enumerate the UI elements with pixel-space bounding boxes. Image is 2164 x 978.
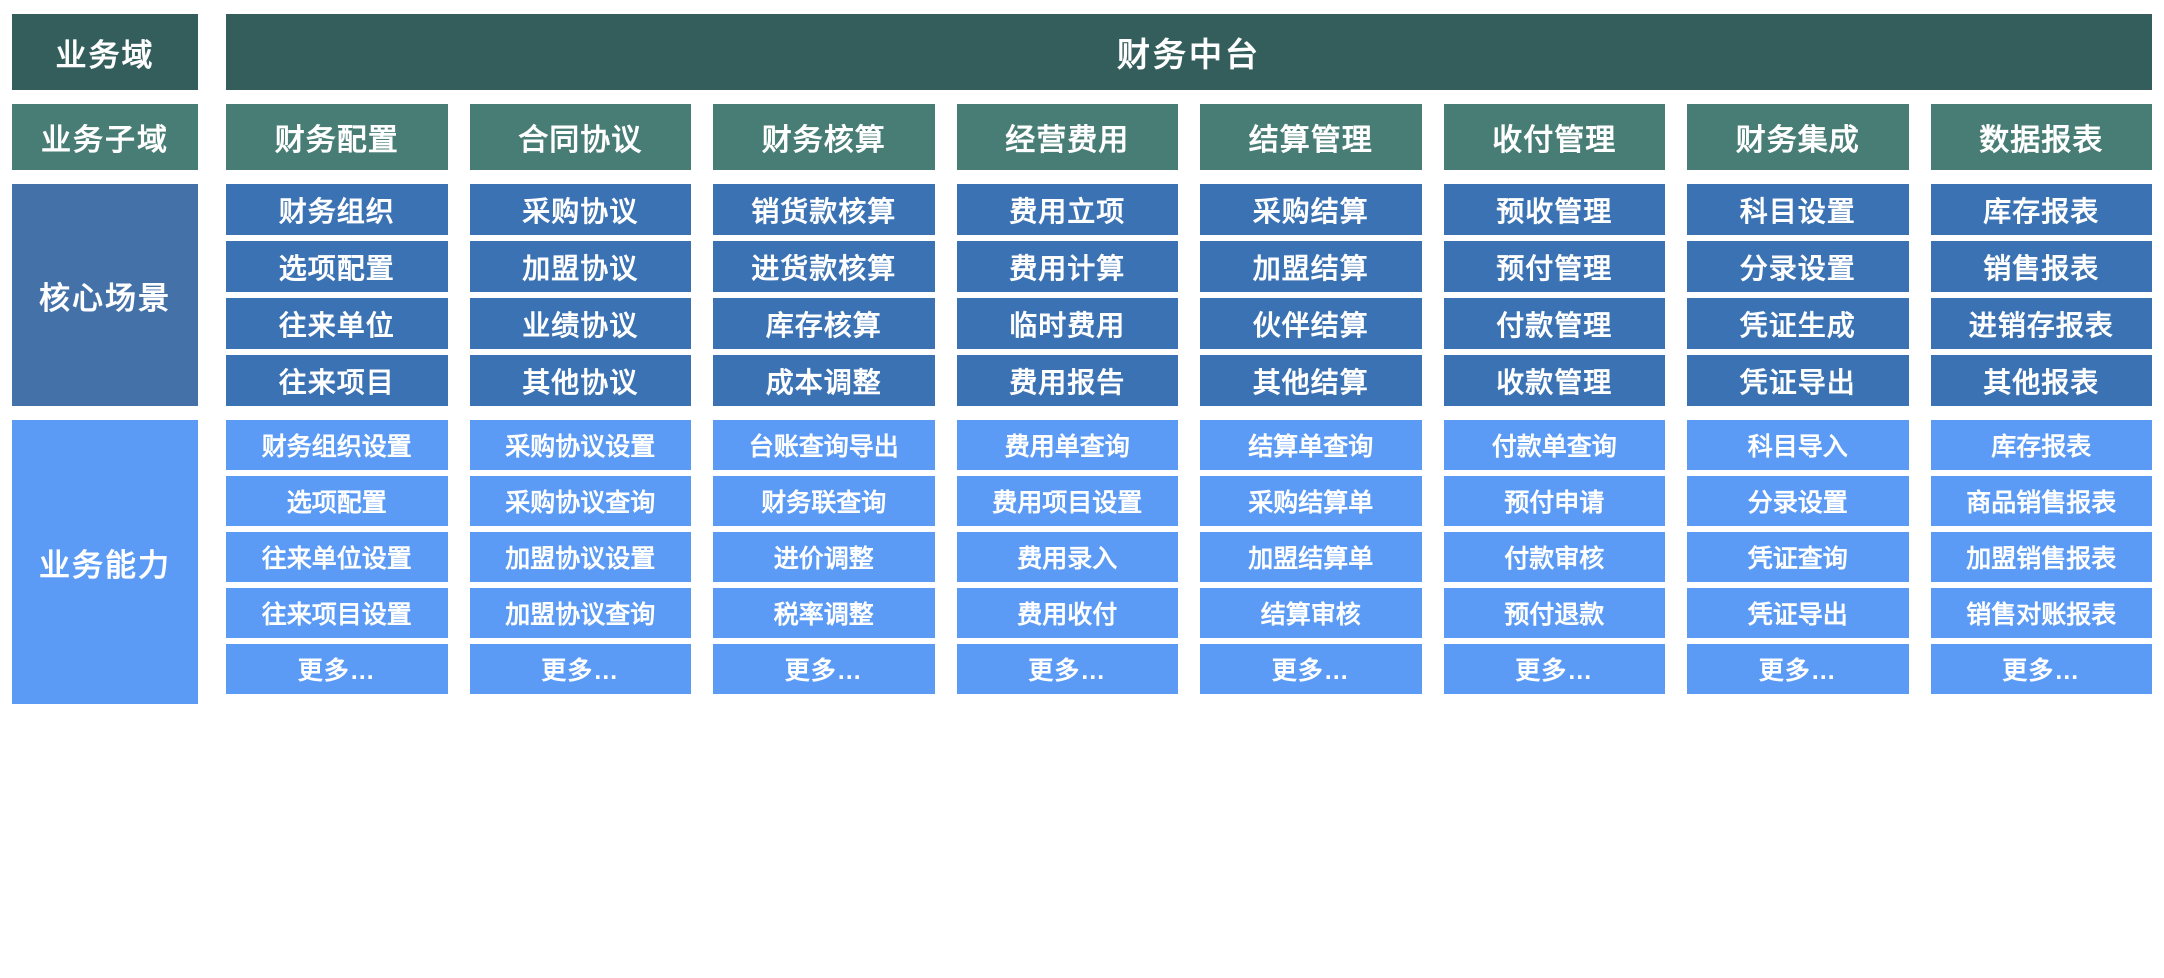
core-scenario-cell[interactable]: 凭证生成: [1687, 298, 1909, 349]
capability-column: 结算单查询 采购结算单 加盟结算单 结算审核 更多…: [1200, 420, 1422, 704]
capability-cell[interactable]: 财务组织设置: [226, 420, 448, 470]
capability-cell[interactable]: 销售对账报表: [1931, 588, 2153, 638]
core-scenario-column: 预收管理 预付管理 付款管理 收款管理: [1444, 184, 1666, 406]
core-scenario-cell[interactable]: 往来单位: [226, 298, 448, 349]
core-scenario-cell[interactable]: 凭证导出: [1687, 355, 1909, 406]
capability-cell[interactable]: 采购协议查询: [470, 476, 692, 526]
capability-cell[interactable]: 费用录入: [957, 532, 1179, 582]
core-scenario-cell[interactable]: 销货款核算: [713, 184, 935, 235]
subdomain-cell[interactable]: 合同协议: [470, 104, 692, 170]
core-scenario-cell[interactable]: 临时费用: [957, 298, 1179, 349]
capability-cell[interactable]: 库存报表: [1931, 420, 2153, 470]
core-scenario-cell[interactable]: 业绩协议: [470, 298, 692, 349]
capability-cell[interactable]: 凭证导出: [1687, 588, 1909, 638]
capability-cell[interactable]: 加盟销售报表: [1931, 532, 2153, 582]
capability-map-board: 业务域 财务中台 业务子域 财务配置 合同协议 财务核算 经营费用 结算管理 收…: [0, 0, 2164, 978]
row-label-business-capability: 业务能力: [12, 420, 198, 704]
capability-column: 付款单查询 预付申请 付款审核 预付退款 更多…: [1444, 420, 1666, 704]
core-scenario-cell[interactable]: 选项配置: [226, 241, 448, 292]
business-subdomain-row: 业务子域 财务配置 合同协议 财务核算 经营费用 结算管理 收付管理 财务集成 …: [12, 104, 2152, 170]
subdomain-cell[interactable]: 财务核算: [713, 104, 935, 170]
core-scenario-cell[interactable]: 其他协议: [470, 355, 692, 406]
core-scenario-cell[interactable]: 库存核算: [713, 298, 935, 349]
business-domain-row: 业务域 财务中台: [12, 14, 2152, 90]
core-scenario-cell[interactable]: 进货款核算: [713, 241, 935, 292]
core-scenario-cell[interactable]: 财务组织: [226, 184, 448, 235]
core-scenario-cell[interactable]: 加盟结算: [1200, 241, 1422, 292]
capability-column: 采购协议设置 采购协议查询 加盟协议设置 加盟协议查询 更多…: [470, 420, 692, 704]
capability-cell[interactable]: 费用收付: [957, 588, 1179, 638]
capability-cell[interactable]: 商品销售报表: [1931, 476, 2153, 526]
core-scenario-cell[interactable]: 伙伴结算: [1200, 298, 1422, 349]
capability-cell[interactable]: 财务联查询: [713, 476, 935, 526]
subdomain-columns: 财务配置 合同协议 财务核算 经营费用 结算管理 收付管理 财务集成 数据报表: [226, 104, 2152, 170]
capability-cell[interactable]: 科目导入: [1687, 420, 1909, 470]
core-scenario-column: 采购结算 加盟结算 伙伴结算 其他结算: [1200, 184, 1422, 406]
core-scenario-cell[interactable]: 进销存报表: [1931, 298, 2153, 349]
capability-cell[interactable]: 付款审核: [1444, 532, 1666, 582]
capability-cell[interactable]: 预付申请: [1444, 476, 1666, 526]
capability-cell[interactable]: 采购结算单: [1200, 476, 1422, 526]
capability-columns: 财务组织设置 选项配置 往来单位设置 往来项目设置 更多… 采购协议设置 采购协…: [226, 420, 2152, 704]
core-scenario-cell[interactable]: 库存报表: [1931, 184, 2153, 235]
core-scenario-cell[interactable]: 其他报表: [1931, 355, 2153, 406]
capability-more-cell[interactable]: 更多…: [470, 644, 692, 694]
capability-cell[interactable]: 凭证查询: [1687, 532, 1909, 582]
core-scenario-cell[interactable]: 往来项目: [226, 355, 448, 406]
core-scenario-cell[interactable]: 付款管理: [1444, 298, 1666, 349]
core-scenario-cell[interactable]: 费用计算: [957, 241, 1179, 292]
capability-cell[interactable]: 预付退款: [1444, 588, 1666, 638]
core-scenario-column: 采购协议 加盟协议 业绩协议 其他协议: [470, 184, 692, 406]
capability-cell[interactable]: 选项配置: [226, 476, 448, 526]
row-label-core-scenario: 核心场景: [12, 184, 198, 406]
capability-cell[interactable]: 台账查询导出: [713, 420, 935, 470]
capability-more-cell[interactable]: 更多…: [1200, 644, 1422, 694]
capability-cell[interactable]: 加盟结算单: [1200, 532, 1422, 582]
capability-more-cell[interactable]: 更多…: [226, 644, 448, 694]
capability-more-cell[interactable]: 更多…: [1931, 644, 2153, 694]
capability-column: 科目导入 分录设置 凭证查询 凭证导出 更多…: [1687, 420, 1909, 704]
core-scenario-cell[interactable]: 科目设置: [1687, 184, 1909, 235]
capability-cell[interactable]: 付款单查询: [1444, 420, 1666, 470]
core-scenario-cell[interactable]: 费用报告: [957, 355, 1179, 406]
capability-cell[interactable]: 结算审核: [1200, 588, 1422, 638]
subdomain-cell[interactable]: 财务配置: [226, 104, 448, 170]
core-scenario-cell[interactable]: 分录设置: [1687, 241, 1909, 292]
capability-cell[interactable]: 加盟协议查询: [470, 588, 692, 638]
core-scenario-column: 科目设置 分录设置 凭证生成 凭证导出: [1687, 184, 1909, 406]
core-scenario-cell[interactable]: 采购结算: [1200, 184, 1422, 235]
capability-column: 库存报表 商品销售报表 加盟销售报表 销售对账报表 更多…: [1931, 420, 2153, 704]
core-scenario-cell[interactable]: 销售报表: [1931, 241, 2153, 292]
capability-more-cell[interactable]: 更多…: [713, 644, 935, 694]
capability-cell[interactable]: 加盟协议设置: [470, 532, 692, 582]
core-scenario-cell[interactable]: 收款管理: [1444, 355, 1666, 406]
core-scenario-cell[interactable]: 其他结算: [1200, 355, 1422, 406]
business-domain-banner: 财务中台: [226, 14, 2152, 90]
capability-cell[interactable]: 往来单位设置: [226, 532, 448, 582]
capability-cell[interactable]: 结算单查询: [1200, 420, 1422, 470]
capability-cell[interactable]: 进价调整: [713, 532, 935, 582]
capability-column: 财务组织设置 选项配置 往来单位设置 往来项目设置 更多…: [226, 420, 448, 704]
capability-cell[interactable]: 税率调整: [713, 588, 935, 638]
subdomain-cell[interactable]: 数据报表: [1931, 104, 2153, 170]
core-scenario-row: 核心场景 财务组织 选项配置 往来单位 往来项目 采购协议 加盟协议 业绩协议 …: [12, 184, 2152, 406]
subdomain-cell[interactable]: 收付管理: [1444, 104, 1666, 170]
capability-cell[interactable]: 往来项目设置: [226, 588, 448, 638]
capability-cell[interactable]: 采购协议设置: [470, 420, 692, 470]
row-label-business-subdomain: 业务子域: [12, 104, 198, 170]
core-scenario-column: 库存报表 销售报表 进销存报表 其他报表: [1931, 184, 2153, 406]
capability-column: 台账查询导出 财务联查询 进价调整 税率调整 更多…: [713, 420, 935, 704]
core-scenario-cell[interactable]: 成本调整: [713, 355, 935, 406]
subdomain-cell[interactable]: 财务集成: [1687, 104, 1909, 170]
capability-more-cell[interactable]: 更多…: [1687, 644, 1909, 694]
row-label-business-domain: 业务域: [12, 14, 198, 90]
subdomain-cell[interactable]: 经营费用: [957, 104, 1179, 170]
capability-more-cell[interactable]: 更多…: [957, 644, 1179, 694]
core-scenario-cell[interactable]: 采购协议: [470, 184, 692, 235]
capability-column: 费用单查询 费用项目设置 费用录入 费用收付 更多…: [957, 420, 1179, 704]
core-scenario-cell[interactable]: 预付管理: [1444, 241, 1666, 292]
core-scenario-cell[interactable]: 加盟协议: [470, 241, 692, 292]
business-capability-row: 业务能力 财务组织设置 选项配置 往来单位设置 往来项目设置 更多… 采购协议设…: [12, 420, 2152, 704]
core-scenario-cell[interactable]: 预收管理: [1444, 184, 1666, 235]
core-scenario-columns: 财务组织 选项配置 往来单位 往来项目 采购协议 加盟协议 业绩协议 其他协议 …: [226, 184, 2152, 406]
capability-cell[interactable]: 费用单查询: [957, 420, 1179, 470]
core-scenario-cell[interactable]: 费用立项: [957, 184, 1179, 235]
subdomain-cell[interactable]: 结算管理: [1200, 104, 1422, 170]
capability-cell[interactable]: 分录设置: [1687, 476, 1909, 526]
core-scenario-column: 销货款核算 进货款核算 库存核算 成本调整: [713, 184, 935, 406]
core-scenario-column: 费用立项 费用计算 临时费用 费用报告: [957, 184, 1179, 406]
core-scenario-column: 财务组织 选项配置 往来单位 往来项目: [226, 184, 448, 406]
capability-cell[interactable]: 费用项目设置: [957, 476, 1179, 526]
capability-more-cell[interactable]: 更多…: [1444, 644, 1666, 694]
